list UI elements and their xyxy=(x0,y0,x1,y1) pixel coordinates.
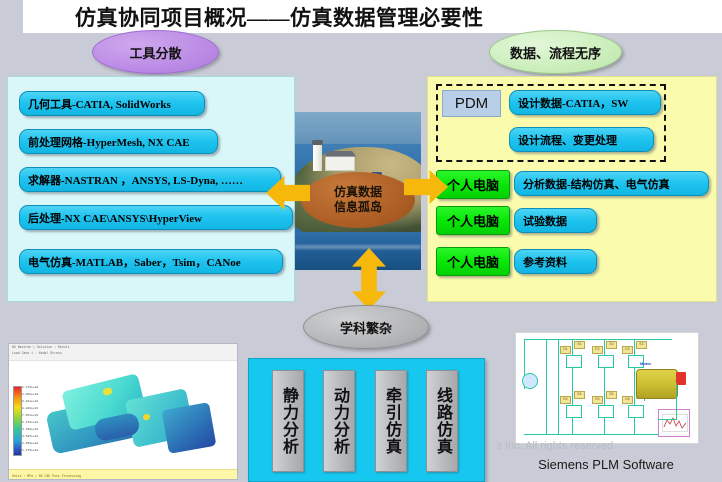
fea-part-right xyxy=(162,402,217,454)
fea-legend-label-8: 2.350e+01 xyxy=(22,442,38,445)
switch-upper-1 xyxy=(566,355,582,368)
circuit-leg-2 xyxy=(604,339,605,434)
tool-chip-solver: 求解器-NASTRAN ，ANSYS, LS-Dyna, …… xyxy=(19,167,281,192)
island-oval-line1: 仿真数据 xyxy=(334,185,382,200)
pdm-chip-design-data: 设计数据-CATIA，SW xyxy=(509,90,661,115)
circuit-label-s1: S1 xyxy=(574,341,585,349)
circuit-leg-1 xyxy=(572,339,573,434)
pc-box-3-label: 个人电脑 xyxy=(447,252,499,271)
scope-waveform xyxy=(663,415,687,431)
discipline-label-2: 牵引仿真 xyxy=(379,387,403,455)
discipline-box-static: 静力分析 xyxy=(272,370,304,472)
circuit-label-d6: D6 xyxy=(622,396,633,404)
island-oval-line2: 信息孤岛 xyxy=(334,200,382,215)
pc-chip-analysis-data: 分析数据-结构仿真、电气仿真 xyxy=(514,171,709,196)
wave-line xyxy=(295,245,421,249)
house-icon xyxy=(325,155,355,171)
circuit-leg-3 xyxy=(634,339,635,434)
right-data-panel: PDM 设计数据-CATIA，SW 设计流程、变更处理 个人电脑 分析数据-结构… xyxy=(427,76,717,302)
fea-legend-label-6: 4.700e+01 xyxy=(22,428,38,431)
island-photo: 仿真数据 信息孤岛 xyxy=(295,112,421,270)
left-tools-panel: 几何工具-CATIA, SolidWorks 前处理网格-HyperMesh, … xyxy=(7,76,295,302)
scope-input-wire xyxy=(658,419,677,420)
pc-box-1-label: 个人电脑 xyxy=(447,175,499,194)
pc-chip-test-data: 试验数据 xyxy=(514,208,597,233)
discipline-box-traction: 牵引仿真 xyxy=(375,370,407,472)
discipline-label-3: 线路仿真 xyxy=(430,387,454,455)
fea-legend-label-7: 3.525e+01 xyxy=(22,435,38,438)
switch-lower-3 xyxy=(628,405,644,418)
oval-data-disordered: 数据、流程无序 xyxy=(489,30,622,74)
fea-legend-label-3: 8.226e+01 xyxy=(22,407,38,410)
circuit-rail-bottom xyxy=(524,434,672,435)
oval-disciplines-complex: 学科繁杂 xyxy=(303,305,429,349)
circuit-label-s5: S5 xyxy=(606,391,617,399)
tool-chip-preprocess: 前处理网格-HyperMesh, NX CAE xyxy=(19,129,218,154)
tool-chip-postprocess: 后处理-NX CAE\ANSYS\HyperView xyxy=(19,205,293,230)
watermark-text: e Management Software Inc. All rights re… xyxy=(497,440,715,452)
fea-result-image: NX Nastran | Solution : Result Load Case… xyxy=(8,343,238,480)
fea-legend-label-4: 7.051e+01 xyxy=(22,414,38,417)
fea-legend-label-5: 5.876e+01 xyxy=(22,421,38,424)
fea-legend-label-2: 9.401e+01 xyxy=(22,400,38,403)
pdm-label-box: PDM xyxy=(442,90,501,117)
fea-legend-label-1: 1.058e+02 xyxy=(22,393,38,396)
circuit-label-d2: D2 xyxy=(592,346,603,354)
switch-upper-2 xyxy=(598,355,614,368)
scope-icon xyxy=(658,409,690,437)
discipline-box-dynamic: 动力分析 xyxy=(323,370,355,472)
circuit-label-d4: D4 xyxy=(560,396,571,404)
pc-box-1: 个人电脑 xyxy=(436,170,510,199)
siemens-caption: Siemens PLM Software xyxy=(497,457,715,472)
switch-lower-1 xyxy=(566,405,582,418)
fea-header-text-2: Load Case 1 : Nodal Stress xyxy=(12,351,62,355)
tool-chip-electrical: 电气仿真-MATLAB，Saber，Tsim，CANoe xyxy=(19,249,283,274)
circuit-diagram: D1 S1 D2 S2 D3 S3 D4 S4 D5 S5 D6 S6 Moto… xyxy=(515,332,699,444)
circuit-wire-bus2 xyxy=(558,339,559,434)
circuit-label-d3: D3 xyxy=(622,346,633,354)
circuit-label-d1: D1 xyxy=(560,346,571,354)
motor-icon xyxy=(636,369,678,399)
page-title: 仿真协同项目概况——仿真数据管理必要性 xyxy=(75,2,484,32)
scope-screen xyxy=(662,414,688,432)
scope-feedback-wire xyxy=(676,383,677,419)
fea-footer-text: Units : MPa | NX CAE Post-Processing xyxy=(12,474,81,478)
pc-chip-reference: 参考资料 xyxy=(514,249,597,274)
pc-box-2: 个人电脑 xyxy=(436,206,510,235)
slide-canvas: 仿真协同项目概况——仿真数据管理必要性 工具分散 数据、流程无序 几何工具-CA… xyxy=(0,0,722,482)
switch-lower-2 xyxy=(598,405,614,418)
circuit-wire-bus1 xyxy=(546,339,547,434)
circuit-label-s3: S3 xyxy=(636,341,647,349)
fea-color-legend xyxy=(13,386,22,456)
pc-box-2-label: 个人电脑 xyxy=(447,211,499,230)
circuit-label-d5: D5 xyxy=(592,396,603,404)
circuit-label-s4: S4 xyxy=(574,391,585,399)
disciplines-panel: 静力分析 动力分析 牵引仿真 线路仿真 xyxy=(248,358,485,482)
fea-model-body xyxy=(43,370,227,468)
pdm-chip-design-process: 设计流程、变更处理 xyxy=(509,127,654,152)
discipline-box-circuit: 线路仿真 xyxy=(426,370,458,472)
tool-chip-geometry: 几何工具-CATIA, SolidWorks xyxy=(19,91,205,116)
fea-header-text-1: NX Nastran | Solution : Result xyxy=(12,345,69,349)
pc-box-3: 个人电脑 xyxy=(436,247,510,276)
fea-legend-label-0: 1.175e+02 xyxy=(22,386,38,389)
circuit-label-s2: S2 xyxy=(606,341,617,349)
oval-tools-scattered: 工具分散 xyxy=(92,30,219,74)
discipline-label-1: 动力分析 xyxy=(327,387,351,455)
circuit-simulation-image: D1 S1 D2 S2 D3 S3 D4 S4 D5 S5 D6 S6 Moto… xyxy=(497,327,715,480)
motor-label: Motor xyxy=(640,361,651,366)
island-data-oval: 仿真数据 信息孤岛 xyxy=(301,172,415,228)
discipline-label-0: 静力分析 xyxy=(276,387,300,455)
lighthouse-icon xyxy=(313,144,322,171)
fea-legend-label-9: 1.175e+01 xyxy=(22,449,38,452)
title-bar: 仿真协同项目概况——仿真数据管理必要性 xyxy=(23,0,722,33)
voltage-source-icon xyxy=(522,373,538,389)
